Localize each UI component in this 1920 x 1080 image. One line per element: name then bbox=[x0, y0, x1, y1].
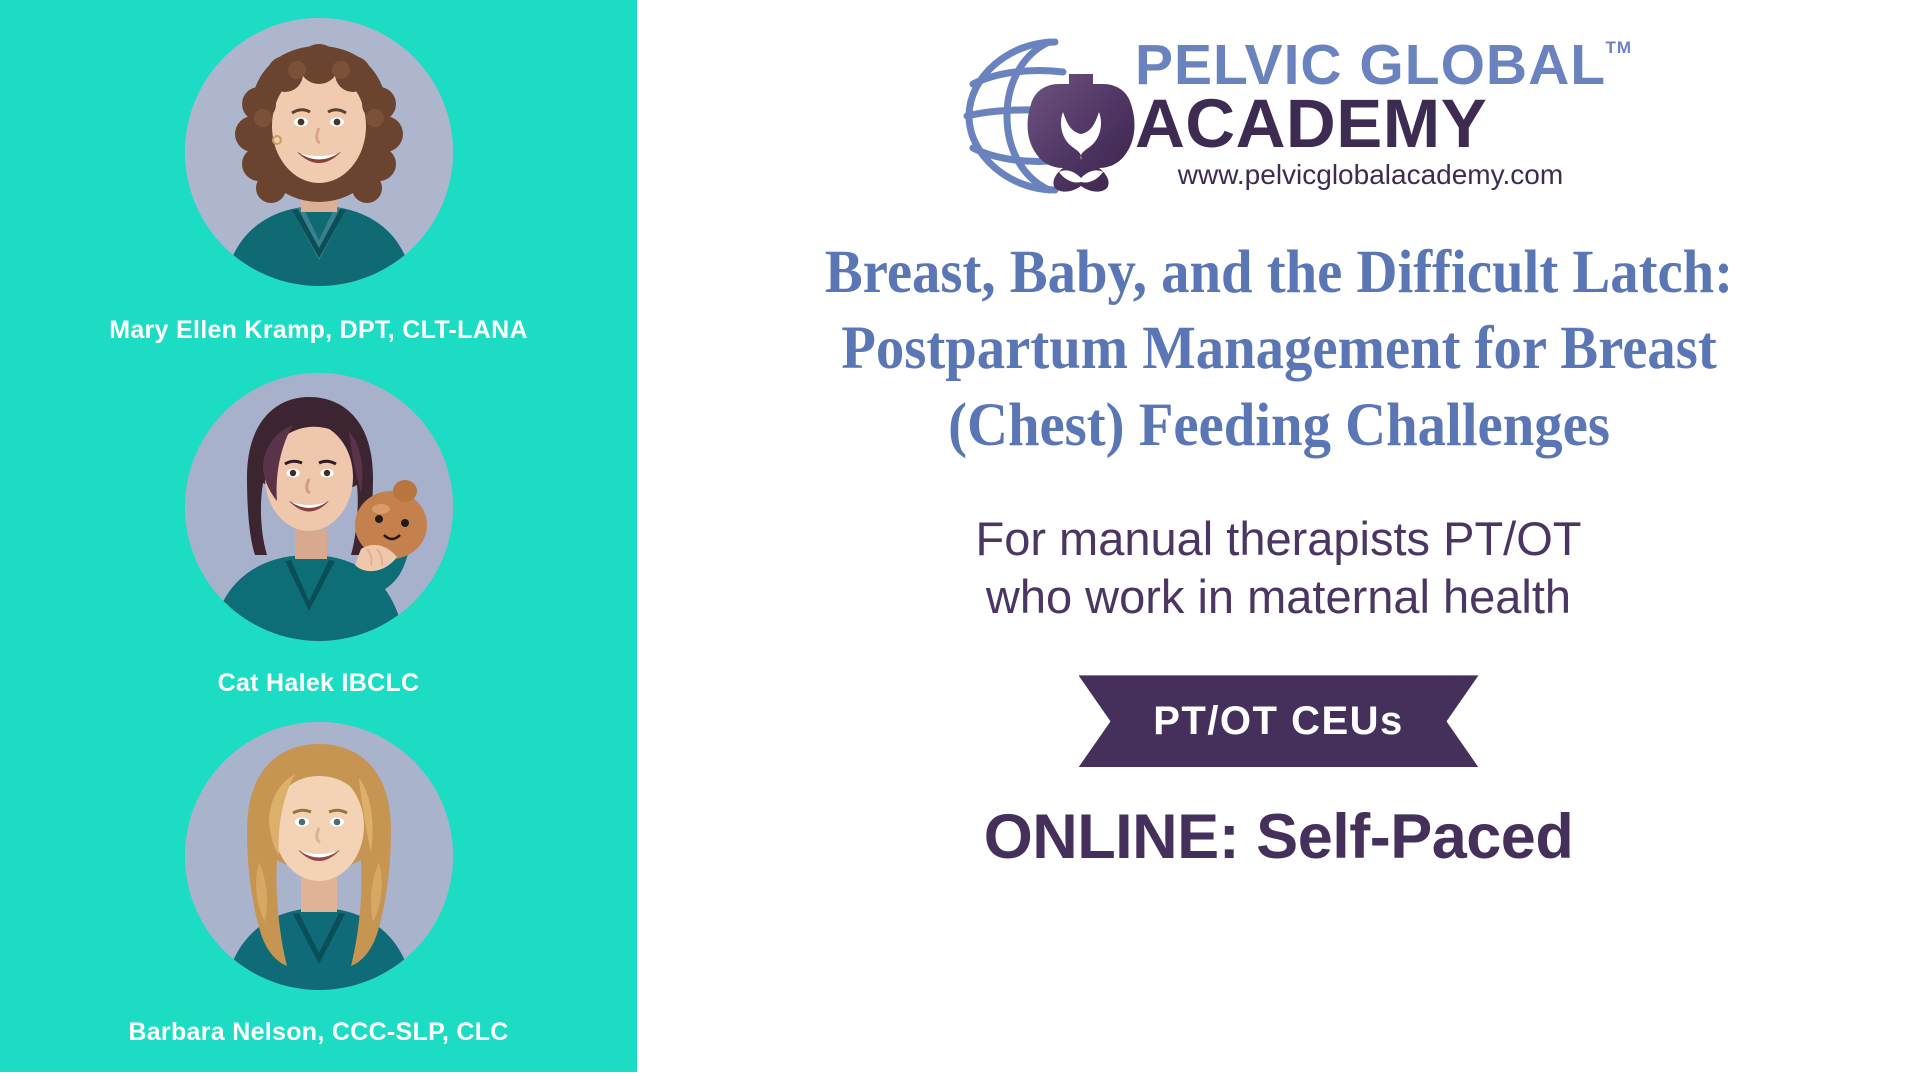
pelvis-icon bbox=[1027, 74, 1134, 192]
globe-icon bbox=[951, 28, 1141, 203]
course-title-line: (Chest) Feeding Challenges bbox=[702, 388, 1855, 464]
logo-website-url: www.pelvicglobalacademy.com bbox=[1135, 159, 1606, 191]
presenter-card: Barbara Nelson, CCC-SLP, CLC bbox=[0, 722, 637, 1047]
status-badge: PT/OT CEUs bbox=[1079, 675, 1479, 767]
logo-secondary-text: ACADEMY bbox=[1135, 90, 1606, 158]
presenter-portrait-icon bbox=[185, 722, 453, 990]
course-promo-poster: Mary Ellen Kramp, DPT, CLT-LANA bbox=[0, 0, 1920, 1080]
brand-logo: PELVIC GLOBAL TM ACADEMY www.pelvicgloba… bbox=[951, 28, 1606, 203]
course-title-line: Breast, Baby, and the Difficult Latch: bbox=[702, 235, 1855, 311]
presenter-name: Cat Halek IBCLC bbox=[218, 669, 420, 698]
audience-line: For manual therapists PT/OT bbox=[976, 510, 1582, 568]
trademark-mark: TM bbox=[1606, 40, 1633, 57]
logo-primary-label: PELVIC GLOBAL bbox=[1135, 33, 1606, 97]
presenters-sidebar: Mary Ellen Kramp, DPT, CLT-LANA bbox=[0, 0, 637, 1072]
delivery-format: ONLINE: Self-Paced bbox=[984, 801, 1574, 873]
ceu-badge-wrapper: PT/OT CEUs bbox=[1079, 675, 1479, 767]
presenter-portrait-icon bbox=[185, 18, 453, 286]
presenter-card: Cat Halek IBCLC bbox=[0, 373, 637, 698]
presenter-card: Mary Ellen Kramp, DPT, CLT-LANA bbox=[0, 18, 637, 345]
ceu-badge-label: PT/OT CEUs bbox=[1153, 699, 1404, 744]
audience-line: who work in maternal health bbox=[976, 568, 1582, 626]
presenter-name: Mary Ellen Kramp, DPT, CLT-LANA bbox=[109, 316, 528, 345]
course-title: Breast, Baby, and the Difficult Latch: P… bbox=[702, 235, 1855, 464]
target-audience: For manual therapists PT/OT who work in … bbox=[976, 510, 1582, 626]
course-details-panel: PELVIC GLOBAL TM ACADEMY www.pelvicgloba… bbox=[637, 0, 1920, 1080]
presenter-portrait-icon bbox=[185, 373, 453, 641]
presenter-name: Barbara Nelson, CCC-SLP, CLC bbox=[128, 1018, 508, 1047]
course-title-line: Postpartum Management for Breast bbox=[702, 311, 1855, 387]
logo-primary-text: PELVIC GLOBAL TM bbox=[1135, 38, 1606, 94]
